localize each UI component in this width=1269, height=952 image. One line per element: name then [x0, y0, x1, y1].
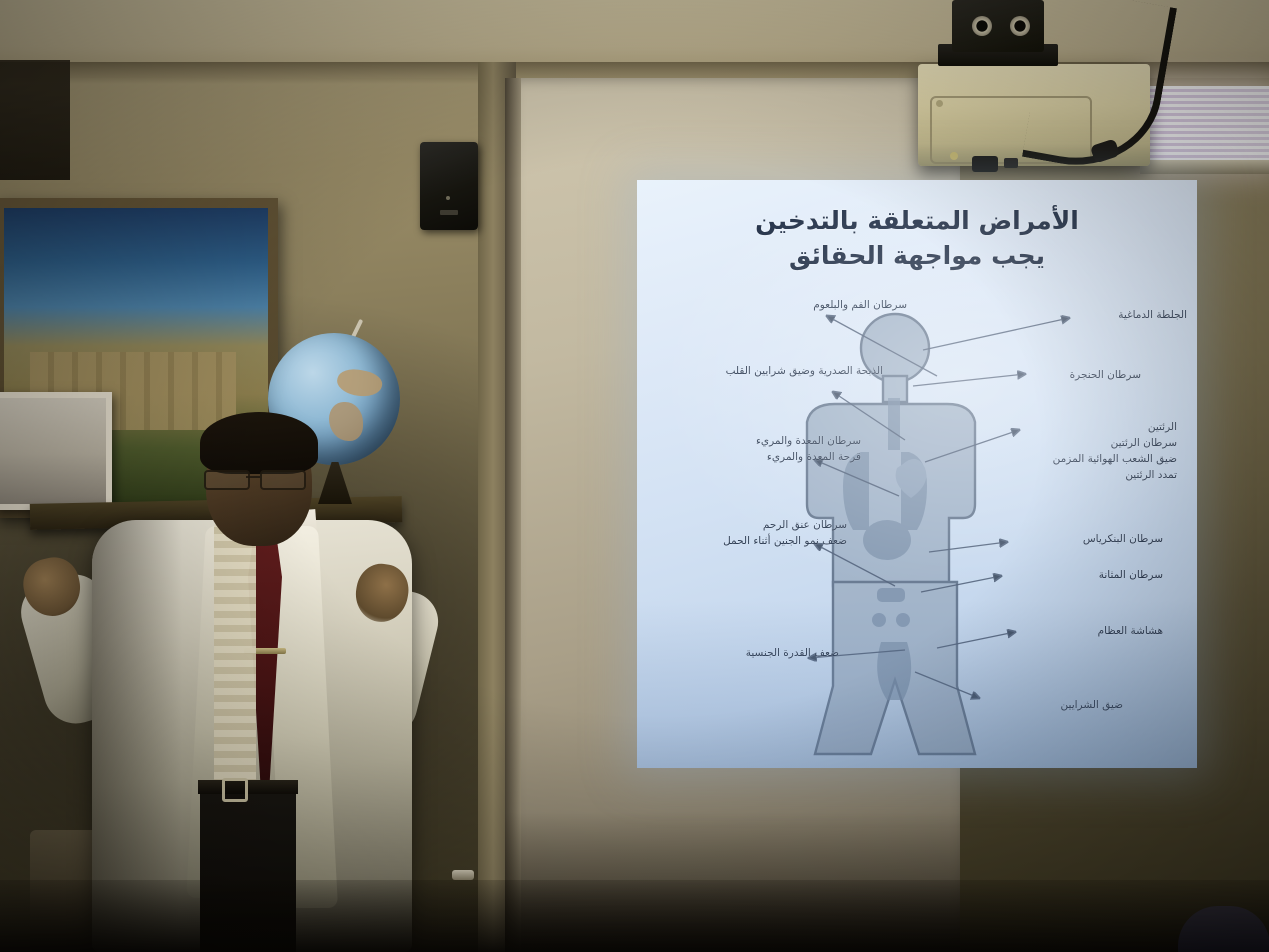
speaker-slot-icon — [440, 210, 458, 215]
indicator-led-icon — [446, 196, 450, 200]
figure-gland — [872, 613, 886, 627]
label-stroke: الجلطة الدماغية — [1057, 308, 1187, 323]
globe-landmass — [334, 366, 383, 401]
window-blinds — [1148, 86, 1269, 166]
label-osteoporosis: هشاشة العظام — [1021, 624, 1163, 639]
slide-content: الأمراض المتعلقة بالتدخين يجب مواجهة الح… — [637, 180, 1197, 768]
label-stomach-esophagus-ulcer: قرحة المعدة والمريء — [685, 450, 861, 465]
eyeglass-lens — [260, 470, 306, 490]
projector-lens-icon — [972, 16, 992, 36]
label-larynx-cancer: سرطان الحنجرة — [1011, 368, 1141, 383]
screw-icon — [950, 152, 958, 160]
label-bladder-cancer: سرطان المثانة — [1021, 568, 1163, 583]
foreground-shadow — [0, 880, 1269, 952]
projector-connector[interactable] — [1004, 158, 1018, 168]
figure-gland — [896, 613, 910, 627]
wall-speaker-box[interactable] — [420, 142, 478, 230]
belt — [198, 780, 298, 794]
label-lung-cancer: سرطان الرئتين — [1019, 436, 1177, 451]
presenter — [0, 400, 470, 952]
label-lungs: الرئتين — [1037, 420, 1177, 435]
label-angina-coronary-narrowing: الذبحة الصدرية وضيق شرايين القلب — [659, 364, 883, 379]
label-artery-narrowing: ضيق الشرايين — [983, 698, 1123, 713]
lecture-hall-scene: الأمراض المتعلقة بالتدخين يجب مواجهة الح… — [0, 0, 1269, 952]
label-chronic-bronchitis: ضيق الشعب الهوائية المزمن — [995, 452, 1177, 467]
presenter-hair — [200, 412, 318, 474]
figure-stomach — [863, 520, 911, 560]
label-pancreas-cancer: سرطان البنكرياس — [1013, 532, 1163, 547]
projector-lens-icon — [1010, 16, 1030, 36]
projector-head — [952, 0, 1044, 52]
wall-dark-band — [0, 60, 70, 180]
label-sexual-impotence: ضعف القدرة الجنسية — [689, 646, 839, 661]
label-mouth-pharynx-cancer: سرطان الفم والبلعوم — [717, 298, 907, 313]
eyeglasses-icon — [204, 470, 316, 486]
label-emphysema: تمدد الرئتين — [1033, 468, 1177, 483]
projector-connector[interactable] — [972, 156, 998, 172]
figure-trachea — [888, 398, 900, 450]
label-cervical-cancer: سرطان عنق الرحم — [661, 518, 847, 533]
label-fetal-growth-impairment: ضعف نمو الجنين أثناء الحمل — [645, 534, 847, 549]
screw-icon — [936, 100, 943, 107]
eyeglass-lens — [204, 470, 250, 490]
window-sill — [1140, 160, 1269, 174]
belt-buckle — [222, 778, 248, 802]
label-stomach-esophagus-cancer: سرطان المعدة والمريء — [685, 434, 861, 449]
eyeglass-bridge — [246, 476, 260, 478]
figure-bladder — [877, 588, 905, 602]
